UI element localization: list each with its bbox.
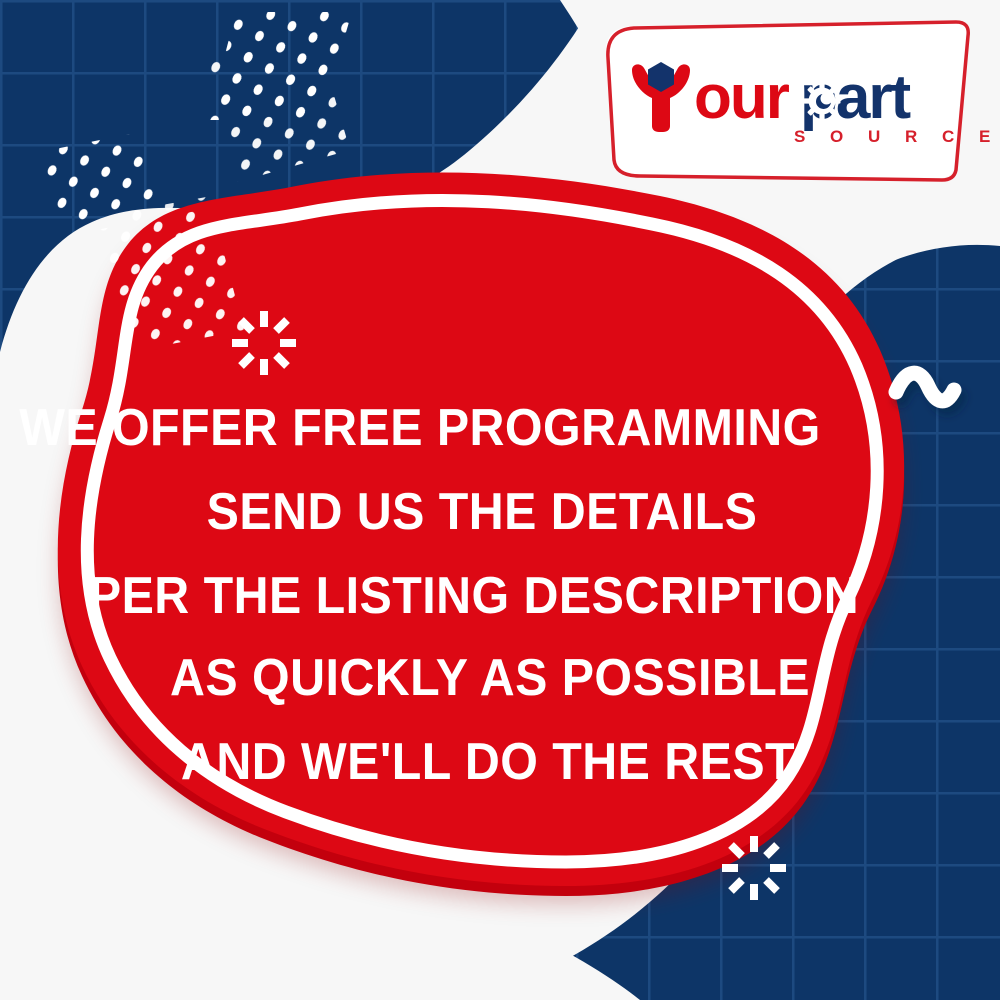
gear-icon <box>804 83 841 120</box>
logo-tagline: S O U R C E <box>794 128 1000 145</box>
logo-wordmark: our part <box>624 60 954 134</box>
logo-text-our: our <box>694 63 790 132</box>
promotional-poster: WE OFFER FREE PROGRAMMING SEND US THE DE… <box>0 0 1000 1000</box>
brand-logo-card[interactable]: our part S O U <box>598 18 970 182</box>
